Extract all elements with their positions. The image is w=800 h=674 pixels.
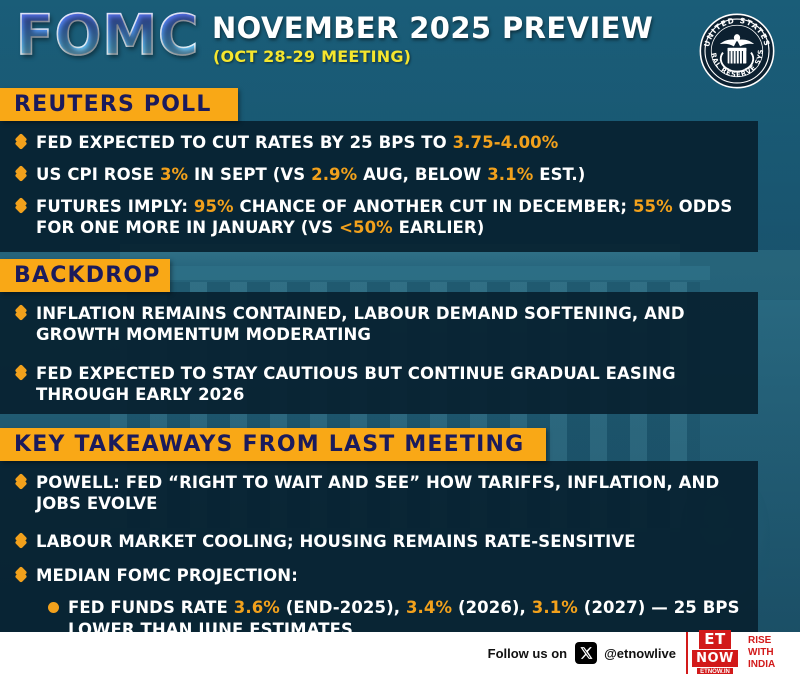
etnow-logo-now: NOW — [692, 650, 738, 667]
list-item: POWELL: FED “RIGHT TO WAIT AND SEE” HOW … — [14, 472, 744, 514]
section-banner-backdrop: BACKDROP — [0, 259, 170, 292]
list-item-text: FED EXPECTED TO CUT RATES BY 25 BPS TO 3… — [36, 132, 558, 153]
diamond-bullet-icon — [14, 199, 27, 212]
etnow-logo-url: ETNOW.IN — [697, 668, 733, 674]
diamond-bullet-icon — [14, 306, 27, 319]
diamond-bullet-icon — [14, 135, 27, 148]
section-bullets-key-takeaways: POWELL: FED “RIGHT TO WAIT AND SEE” HOW … — [14, 472, 744, 640]
section-banner-reuters-poll: REUTERS POLL — [0, 88, 238, 121]
list-item-text: MEDIAN FOMC PROJECTION: — [36, 565, 298, 586]
follow-us-label: Follow us on — [488, 646, 567, 661]
section-banner-key-takeaways: KEY TAKEAWAYS FROM LAST MEETING — [0, 428, 546, 461]
diamond-bullet-icon — [14, 475, 27, 488]
tagline-line-2: WITH — [748, 647, 800, 659]
list-item-text: POWELL: FED “RIGHT TO WAIT AND SEE” HOW … — [36, 472, 744, 514]
infographic-poster: FOMC NOVEMBER 2025 PREVIEW (OCT 28-29 ME… — [0, 0, 800, 674]
diamond-bullet-icon — [14, 568, 27, 581]
tagline-line-1: RISE — [748, 635, 800, 647]
tagline-line-3: INDIA — [748, 659, 800, 671]
diamond-bullet-icon — [14, 366, 27, 379]
fomc-wordmark: FOMC — [16, 8, 199, 63]
etnow-tagline: RISE WITH INDIA — [742, 632, 800, 674]
list-item-text: FED EXPECTED TO STAY CAUTIOUS BUT CONTIN… — [36, 363, 744, 405]
etnow-mark: ET NOW ETNOW.IN — [686, 632, 742, 674]
poster-header: FOMC NOVEMBER 2025 PREVIEW (OCT 28-29 ME… — [0, 0, 800, 86]
list-item-text: US CPI ROSE 3% IN SEPT (VS 2.9% AUG, BEL… — [36, 164, 585, 185]
diamond-bullet-icon — [14, 167, 27, 180]
list-item: FED EXPECTED TO STAY CAUTIOUS BUT CONTIN… — [14, 363, 744, 405]
section-bullets-reuters-poll: FED EXPECTED TO CUT RATES BY 25 BPS TO 3… — [14, 132, 744, 238]
list-item: LABOUR MARKET COOLING; HOUSING REMAINS R… — [14, 531, 744, 552]
list-item-text: INFLATION REMAINS CONTAINED, LABOUR DEMA… — [36, 303, 744, 345]
list-item-text: FUTURES IMPLY: 95% CHANCE OF ANOTHER CUT… — [36, 196, 744, 238]
section-banner-label: REUTERS POLL — [14, 94, 212, 116]
section-banner-label: KEY TAKEAWAYS FROM LAST MEETING — [14, 434, 524, 456]
page-subtitle: (OCT 28-29 MEETING) — [213, 49, 411, 65]
list-item: MEDIAN FOMC PROJECTION: — [14, 565, 744, 586]
section-bullets-backdrop: INFLATION REMAINS CONTAINED, LABOUR DEMA… — [14, 303, 744, 405]
list-item-text: LABOUR MARKET COOLING; HOUSING REMAINS R… — [36, 531, 636, 552]
page-title: NOVEMBER 2025 PREVIEW — [212, 14, 653, 43]
section-banner-label: BACKDROP — [14, 265, 161, 287]
list-item: US CPI ROSE 3% IN SEPT (VS 2.9% AUG, BEL… — [14, 164, 744, 185]
list-item: FUTURES IMPLY: 95% CHANCE OF ANOTHER CUT… — [14, 196, 744, 238]
social-handle[interactable]: @etnowlive — [604, 646, 676, 661]
dot-bullet-icon — [48, 602, 59, 613]
etnow-logo[interactable]: ET NOW ETNOW.IN RISE WITH INDIA — [686, 632, 800, 674]
poster-footer: Follow us on @etnowlive ET NOW ETNOW.IN … — [0, 632, 800, 674]
diamond-bullet-icon — [14, 534, 27, 547]
list-item: FED EXPECTED TO CUT RATES BY 25 BPS TO 3… — [14, 132, 744, 153]
list-item: INFLATION REMAINS CONTAINED, LABOUR DEMA… — [14, 303, 744, 345]
etnow-logo-et: ET — [699, 630, 730, 649]
federal-reserve-seal-icon: UNITED STATES FEDERAL RESERVE SYSTEM — [698, 12, 776, 90]
x-twitter-icon[interactable] — [575, 642, 597, 664]
